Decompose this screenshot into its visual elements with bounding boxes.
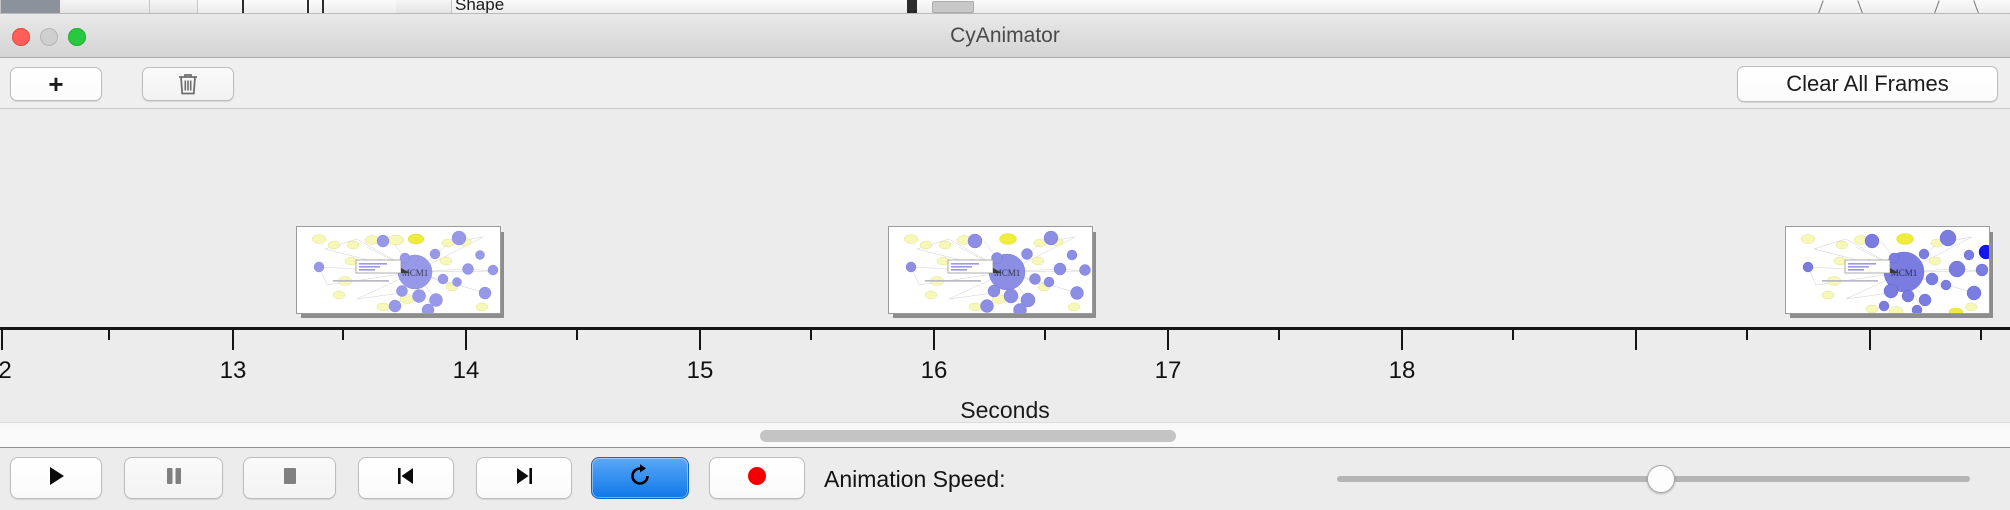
ruler-tick-minor	[1278, 330, 1280, 340]
window-title: CyAnimator	[0, 14, 2010, 58]
network-preview-2: MCM1	[889, 227, 1093, 314]
traffic-light-group	[12, 28, 86, 46]
background-window-tab	[60, 0, 150, 14]
loop-icon	[627, 463, 653, 494]
skip-forward-icon	[512, 464, 536, 493]
clear-all-frames-button[interactable]: Clear All Frames	[1737, 66, 1998, 102]
background-window-tab	[0, 0, 1, 14]
hub-node-label: MCM1	[994, 268, 1021, 278]
ruler-tick-major	[1, 330, 3, 350]
ruler-tick-minor	[1044, 330, 1046, 340]
background-window-slash	[1817, 0, 1823, 14]
network-preview-1: MCM1	[297, 227, 501, 314]
ruler-tick-major	[933, 330, 935, 350]
close-icon[interactable]	[12, 28, 30, 46]
ruler-tick-major	[465, 330, 467, 350]
ruler-tick-minor	[1980, 330, 1982, 340]
ruler-tick-major	[232, 330, 234, 350]
background-window-mark	[907, 0, 917, 14]
background-window-mark	[242, 0, 244, 14]
background-window-tab	[150, 0, 198, 14]
ruler-tick-minor	[1746, 330, 1748, 340]
animation-speed-slider-thumb[interactable]	[1647, 465, 1675, 493]
ruler-label: 18	[1389, 357, 1416, 385]
frame-back-button[interactable]	[358, 457, 454, 499]
background-window-slash	[1933, 0, 1939, 14]
loop-button[interactable]	[591, 457, 689, 499]
trash-icon	[177, 72, 199, 96]
animation-speed-label: Animation Speed:	[824, 466, 1006, 493]
ruler-label: 17	[1155, 357, 1182, 385]
frame-forward-button[interactable]	[476, 457, 572, 499]
ruler-tick-minor	[342, 330, 344, 340]
background-window-thumb	[932, 1, 974, 13]
playback-control-bar: Animation Speed:	[0, 448, 2010, 510]
ruler-tick-major	[1401, 330, 1403, 350]
play-icon	[44, 464, 68, 493]
add-frame-button[interactable]: +	[10, 67, 102, 101]
ruler-label: 2	[0, 357, 12, 385]
background-window-mark	[307, 0, 309, 14]
stop-button[interactable]	[243, 457, 336, 499]
ruler-label: 13	[220, 357, 247, 385]
timeline-ruler[interactable]: 2 13 14 15 16 17 18 Seconds	[0, 327, 2010, 422]
background-window-sidebar	[0, 0, 60, 14]
network-preview-3: MCM1	[1786, 227, 1990, 314]
background-window-slash	[1973, 0, 1979, 14]
record-button[interactable]	[709, 457, 805, 499]
hub-node-label: MCM1	[402, 268, 429, 278]
background-window-mark	[322, 0, 324, 14]
background-window-tab	[396, 0, 452, 14]
ruler-tick-minor	[576, 330, 578, 340]
stop-icon	[278, 464, 302, 493]
ruler-tick-minor	[108, 330, 110, 340]
clear-all-frames-label: Clear All Frames	[1786, 71, 1949, 97]
maximize-icon[interactable]	[68, 28, 86, 46]
record-icon	[745, 464, 769, 493]
hub-node-label: MCM1	[1891, 268, 1918, 278]
frame-thumbnail-1[interactable]: MCM1	[296, 226, 501, 314]
background-window-slash	[1857, 0, 1863, 14]
frame-thumbnail-3[interactable]: MCM1	[1785, 226, 1990, 314]
play-button[interactable]	[10, 457, 102, 499]
ruler-label: 15	[687, 357, 714, 385]
background-window-label: Shape	[455, 0, 504, 14]
axis-title: Seconds	[0, 397, 2010, 422]
ruler-tick-major	[1869, 330, 1871, 350]
ruler-label: 16	[921, 357, 948, 385]
frame-toolbar: + Clear All Frames	[0, 58, 2010, 109]
timeline-scrollbar[interactable]	[0, 422, 2010, 448]
window-titlebar: CyAnimator	[0, 14, 2010, 58]
frame-thumbnail-2[interactable]: MCM1	[888, 226, 1093, 314]
pause-button[interactable]	[124, 457, 223, 499]
minimize-icon[interactable]	[40, 28, 58, 46]
timeline-scrollbar-thumb[interactable]	[760, 430, 1176, 442]
ruler-tick-minor	[810, 330, 812, 340]
ruler-tick-major	[1167, 330, 1169, 350]
background-window-strip: Shape	[0, 0, 2010, 14]
ruler-tick-major	[699, 330, 701, 350]
cyanimator-window: CyAnimator + Clear All Frames	[0, 14, 2010, 510]
pause-icon	[162, 464, 186, 493]
delete-frame-button[interactable]	[142, 67, 234, 101]
ruler-baseline	[0, 327, 2010, 330]
ruler-tick-major	[1635, 330, 1637, 350]
skip-backward-icon	[394, 464, 418, 493]
ruler-label: 14	[453, 357, 480, 385]
timeline-panel[interactable]: MCM1	[0, 109, 2010, 422]
ruler-tick-minor	[1512, 330, 1514, 340]
